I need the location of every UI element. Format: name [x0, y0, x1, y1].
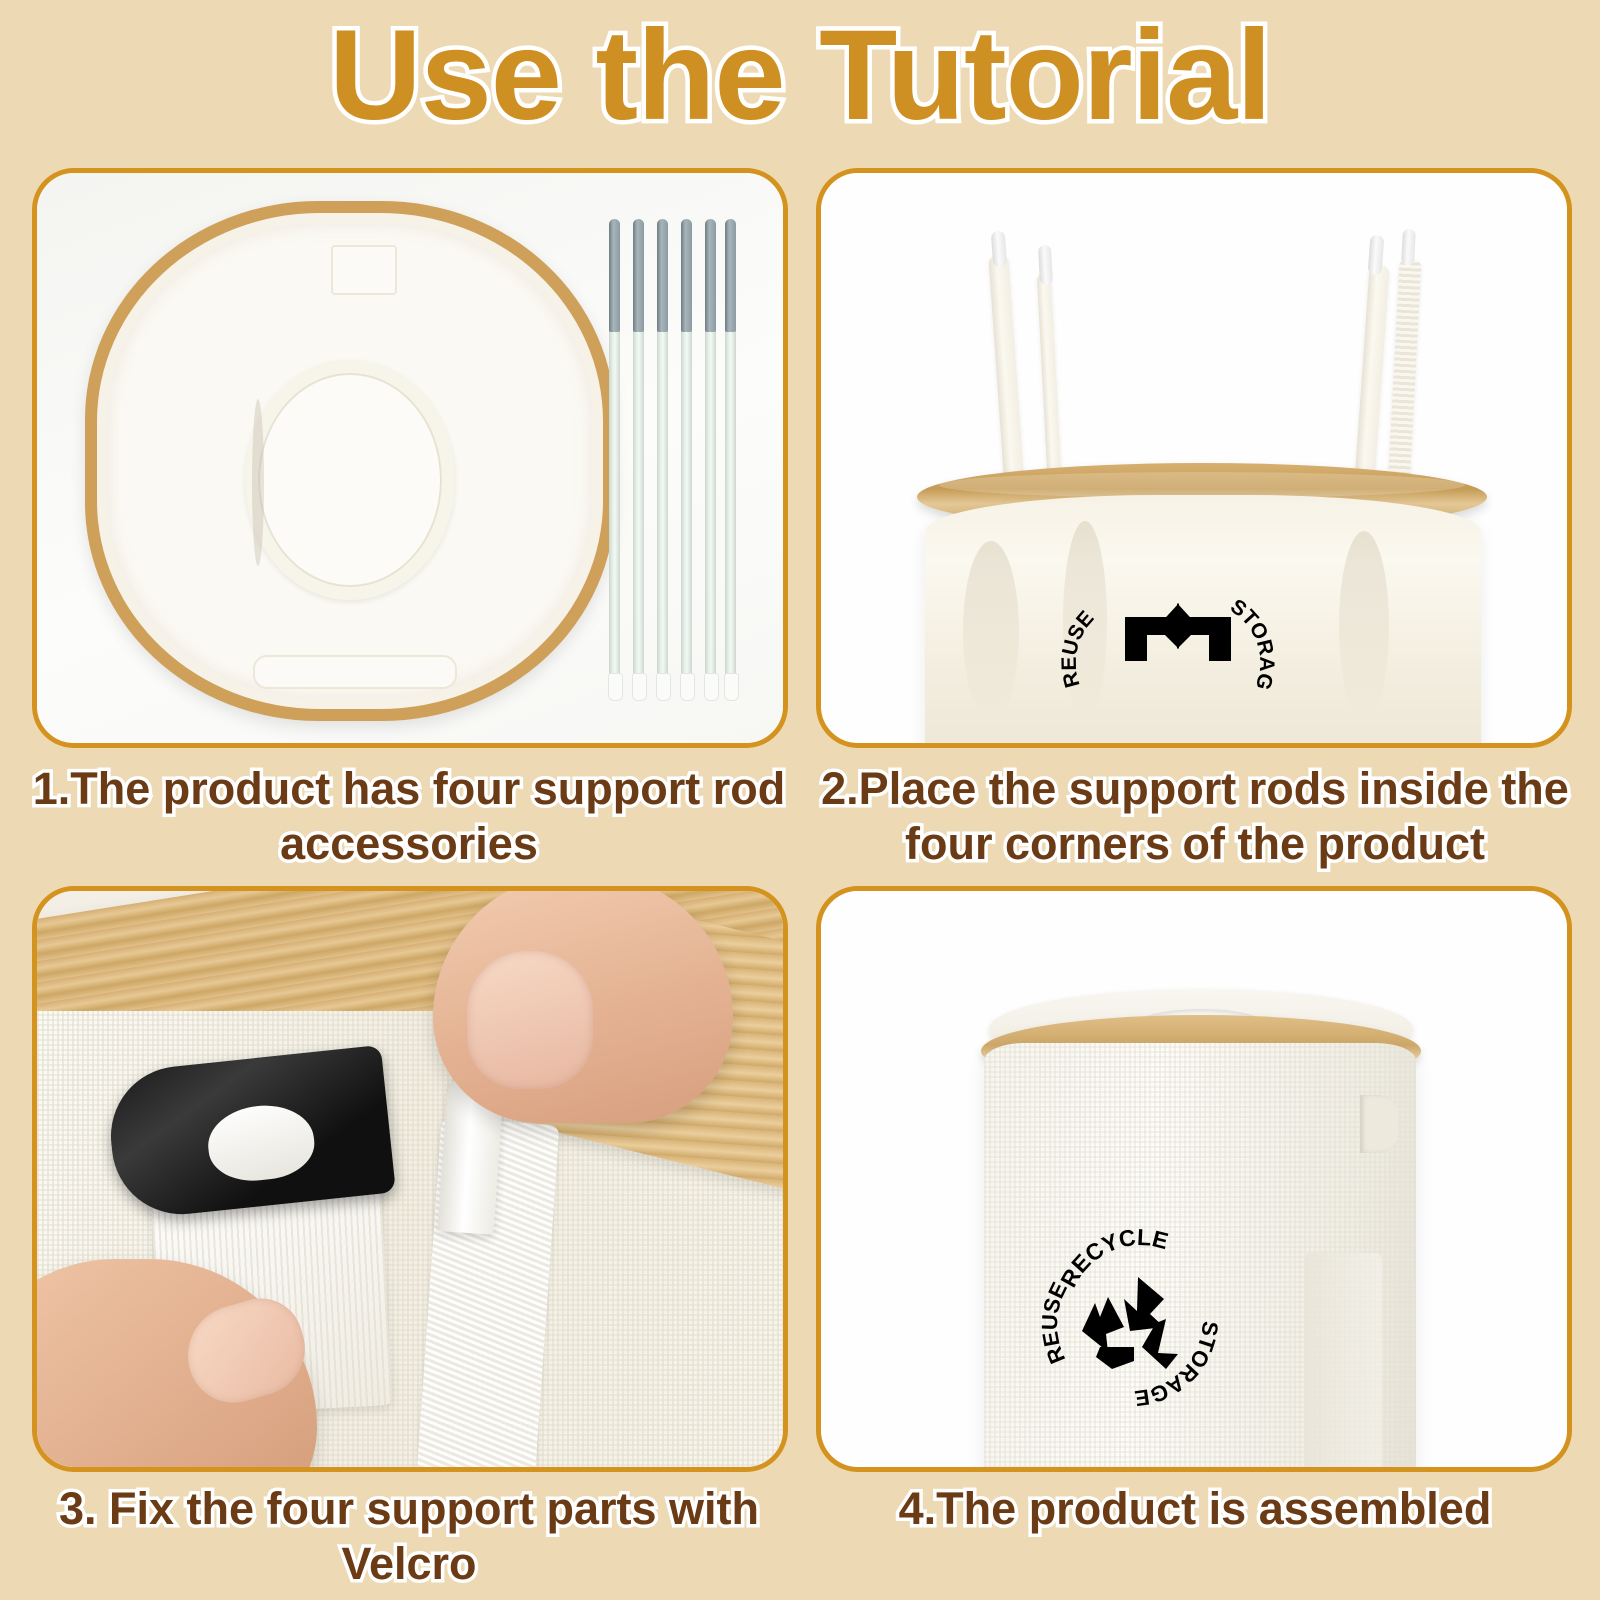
fabric-seam: [1304, 1253, 1382, 1472]
logo-word-reuse: REUSE: [1037, 1278, 1072, 1367]
step-3-photo: [32, 886, 788, 1472]
fabric-fold: [1339, 531, 1389, 721]
step-1-caption: 1.The product has four support rod acces…: [14, 762, 804, 872]
photo-backdrop: RECYCLE REUSE STORAGE: [821, 891, 1567, 1467]
hamper-fabric-body: REUSE STORAGE: [925, 495, 1481, 748]
step-4-photo: RECYCLE REUSE STORAGE: [816, 886, 1572, 1472]
support-rod: [633, 219, 644, 689]
photo-backdrop: [37, 173, 783, 743]
logo-word-recycle: RECYCLE: [1055, 1224, 1171, 1292]
step-2-photo: REUSE STORAGE: [816, 168, 1572, 748]
side-handle: [1360, 1095, 1398, 1153]
support-rod: [725, 219, 736, 689]
photo-backdrop: [37, 891, 783, 1467]
rod-tip-icon: [705, 219, 716, 332]
bamboo-rim-lid: [85, 201, 615, 721]
rod-foot: [608, 673, 623, 701]
rod-cap: [1038, 245, 1053, 286]
rod-foot: [656, 673, 671, 701]
fingernail: [467, 951, 593, 1089]
recycle-logo: RECYCLE REUSE STORAGE: [1038, 1215, 1238, 1415]
svg-text:RECYCLE: RECYCLE: [1055, 1224, 1171, 1292]
step-3-caption: 3. Fix the four support parts with Velcr…: [14, 1482, 804, 1592]
logo-word-storage: STORAGE: [1133, 1320, 1223, 1411]
lid-tab: [331, 245, 397, 295]
svg-text:STORAGE: STORAGE: [1133, 1320, 1223, 1411]
photo-backdrop: REUSE STORAGE: [821, 173, 1567, 743]
support-rod: [657, 219, 668, 689]
rod-cap: [1401, 229, 1416, 266]
lid-opening: [245, 360, 455, 600]
rod-cap: [991, 231, 1007, 268]
support-rod-sleeve: [988, 255, 1025, 506]
rod-foot: [632, 673, 647, 701]
rod-foot: [704, 673, 719, 701]
rod-tip-icon: [657, 219, 668, 332]
svg-text:REUSE: REUSE: [1037, 1278, 1072, 1367]
rod-foot: [680, 673, 695, 701]
step-2-caption: 2.Place the support rods inside the four…: [800, 762, 1590, 872]
step-1-photo: [32, 168, 788, 748]
support-rod: [705, 219, 716, 689]
step-4-caption: 4.The product is assembled: [800, 1482, 1590, 1537]
rod-tip-icon: [725, 219, 736, 332]
page-title: Use the Tutorial: [0, 4, 1600, 147]
lid-fabric: [97, 213, 603, 709]
fabric-fold: [963, 541, 1019, 721]
support-rod: [681, 219, 692, 689]
support-rod: [609, 219, 620, 689]
rod-cap: [1368, 235, 1385, 276]
reuse-storage-logo: REUSE STORAGE: [1073, 583, 1263, 701]
rod-tip-icon: [681, 219, 692, 332]
rod-foot: [724, 673, 739, 701]
rod-tip-icon: [609, 219, 620, 332]
hamper-body: RECYCLE REUSE STORAGE: [984, 1043, 1416, 1472]
support-rods-group: [599, 219, 749, 689]
lid-bottom-tab: [253, 655, 457, 689]
rod-tip-icon: [633, 219, 644, 332]
